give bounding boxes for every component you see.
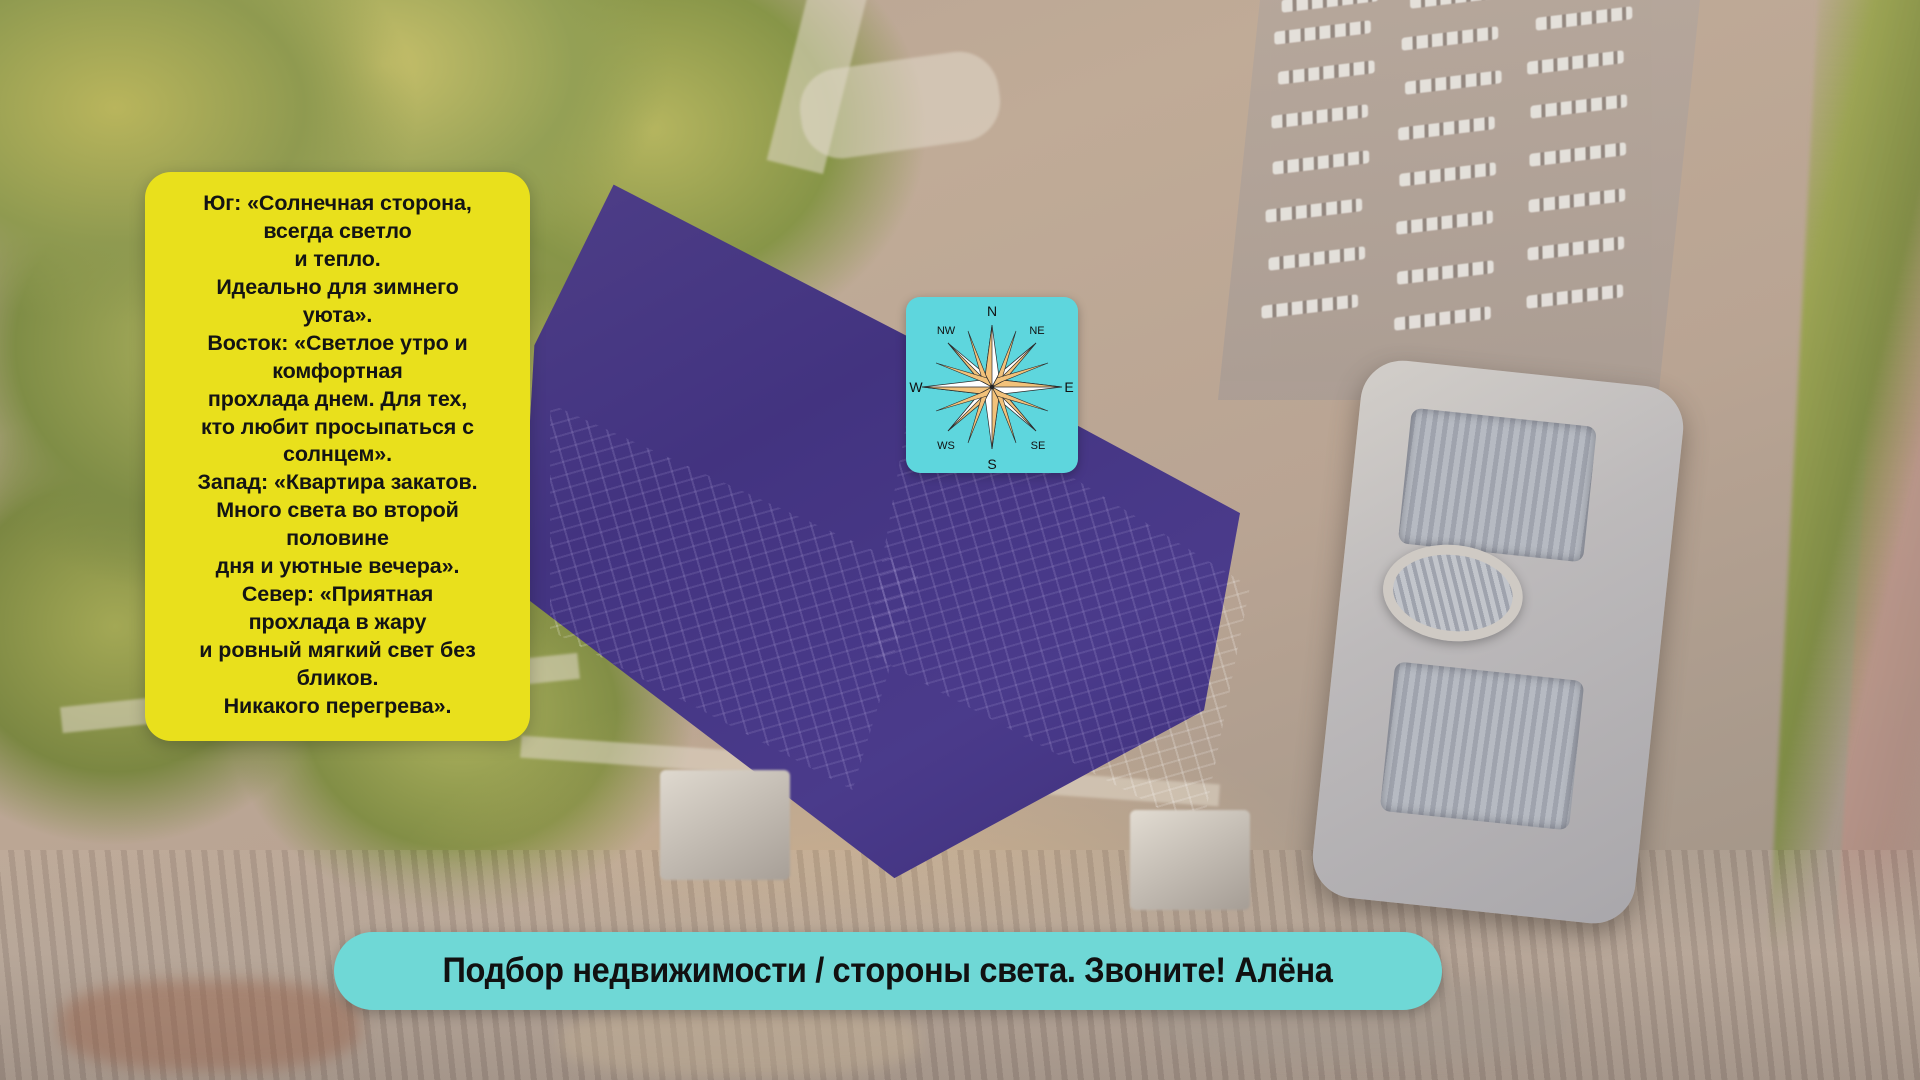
foreground-building-right <box>1130 810 1250 910</box>
info-line: прохлада в жару <box>167 609 508 637</box>
compass-rose-icon: N NE E SE S WS W NW <box>906 297 1078 473</box>
compass-label-nw: NW <box>937 325 956 337</box>
parking-lot <box>1218 0 1702 400</box>
info-line: и тепло. <box>167 246 508 274</box>
info-line: кто любит просыпаться с <box>167 414 508 442</box>
compass-label-n: N <box>987 303 997 319</box>
info-line: всегда светло <box>167 218 508 246</box>
info-line: бликов. <box>167 665 508 693</box>
info-line: комфортная <box>167 358 508 386</box>
promo-canvas: Юг: «Солнечная сторона, всегда светло и … <box>0 0 1920 1080</box>
info-line: уюта». <box>167 302 508 330</box>
info-line: прохлада днем. Для тех, <box>167 386 508 414</box>
info-line: Никакого перегрева». <box>167 693 508 721</box>
info-line: Север: «Приятная <box>167 581 508 609</box>
contact-cta-banner[interactable]: Подбор недвижимости / стороны света. Зво… <box>334 932 1442 1010</box>
ground-blob-2 <box>560 1006 920 1076</box>
info-line: Восток: «Светлое утро и <box>167 330 508 358</box>
foreground-building-left <box>660 770 790 880</box>
orientation-info-card: Юг: «Солнечная сторона, всегда светло и … <box>145 172 530 741</box>
info-line: Юг: «Солнечная сторона, <box>167 190 508 218</box>
compass-rose-card: N NE E SE S WS W NW <box>906 297 1078 473</box>
info-line: Много света во второй <box>167 497 508 525</box>
info-line: и ровный мягкий свет без <box>167 637 508 665</box>
ground-blob-1 <box>60 980 360 1070</box>
info-line: дня и уютные вечера». <box>167 553 508 581</box>
neighbor-building-complex <box>1309 357 1688 928</box>
compass-label-w: W <box>909 379 923 395</box>
info-line: солнцем». <box>167 441 508 469</box>
highlighted-building <box>520 170 1240 900</box>
info-line: Запад: «Квартира закатов. <box>167 469 508 497</box>
compass-label-ne: NE <box>1029 325 1044 337</box>
info-line: половине <box>167 525 508 553</box>
info-line: Идеально для зимнего <box>167 274 508 302</box>
compass-label-ws: WS <box>937 440 955 452</box>
compass-label-e: E <box>1064 379 1073 395</box>
cta-text: Подбор недвижимости / стороны света. Зво… <box>443 951 1333 991</box>
compass-label-s: S <box>987 456 996 472</box>
compass-label-se: SE <box>1031 440 1046 452</box>
